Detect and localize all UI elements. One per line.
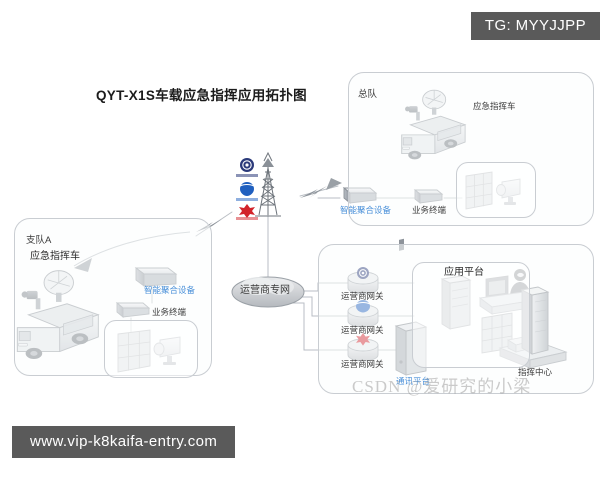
node-label-business-terminal-hq: 业务终端 — [412, 206, 446, 215]
subgroup-panel-display-a — [104, 320, 198, 378]
china-mobile-logo — [236, 158, 258, 177]
cell-tower-icon — [255, 153, 281, 216]
subgroup-label-application-platform: 应用平台 — [444, 268, 484, 278]
carrier-logo-stack — [236, 158, 258, 220]
node-label-carrier-private-network: 运营商专网 — [240, 286, 290, 296]
node-label-carrier-gateway-1: 运营商网关 — [341, 292, 384, 301]
node-label-carrier-gateway-3: 运营商网关 — [341, 360, 384, 369]
wireless-link-icon — [196, 186, 327, 232]
csdn-watermark: CSDN @爱研究的小梁 — [352, 372, 531, 397]
node-label-smart-aggregation-a: 智能聚合设备 — [144, 286, 195, 295]
china-unicom-logo — [236, 204, 258, 220]
china-telecom-logo — [236, 182, 258, 201]
node-label-carrier-gateway-2: 运营商网关 — [341, 326, 384, 335]
node-label-command-vehicle-a: 应急指挥车 — [30, 252, 80, 262]
node-label-business-terminal-a: 业务终端 — [152, 308, 186, 317]
topology-diagram-canvas: QYT-X1S车载应急指挥应用拓扑图 支队A 总队 应急指挥车 智能聚合设备 业… — [0, 0, 600, 480]
group-label-headquarters: 总队 — [358, 86, 377, 100]
tg-badge: TG: MYYJJPP — [471, 12, 600, 40]
node-label-smart-aggregation-hq: 智能聚合设备 — [340, 206, 391, 215]
node-label-command-vehicle-hq: 应急指挥车 — [473, 102, 516, 111]
url-badge: www.vip-k8kaifa-entry.com — [12, 426, 235, 458]
subgroup-panel-display-hq — [456, 162, 536, 218]
page-title: QYT-X1S车载应急指挥应用拓扑图 — [96, 84, 307, 104]
group-label-detachment-a: 支队A — [26, 232, 51, 246]
